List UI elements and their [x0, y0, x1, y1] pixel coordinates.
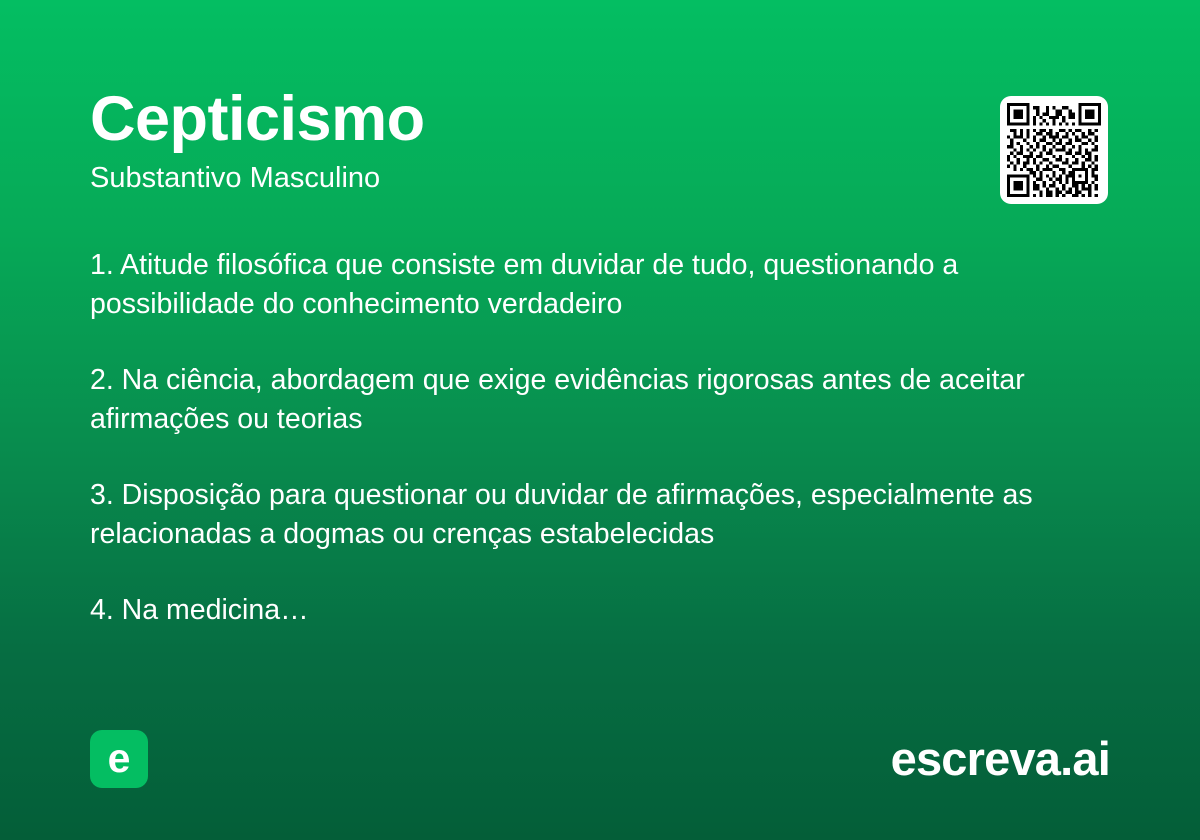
definition-item: 4. Na medicina…	[90, 591, 1100, 630]
page-title: Cepticismo	[90, 88, 1110, 151]
definition-item: 2. Na ciência, abordagem que exige evidê…	[90, 361, 1100, 439]
definition-item: 1. Atitude filosófica que consiste em du…	[90, 246, 1100, 324]
definition-card: Cepticismo Substantivo Masculino	[0, 0, 1200, 840]
qr-code-container[interactable]	[1000, 96, 1108, 204]
brand-logo-icon: e	[90, 730, 148, 788]
brand-logo-letter: e	[90, 730, 148, 788]
brand-name: escreva.ai	[891, 733, 1110, 785]
definition-list: 1. Atitude filosófica que consiste em du…	[90, 246, 1100, 630]
word-class-label: Substantivo Masculino	[90, 151, 1110, 193]
definition-item: 3. Disposição para questionar ou duvidar…	[90, 476, 1100, 554]
card-footer: e escreva.ai	[90, 730, 1110, 788]
card-header: Cepticismo Substantivo Masculino	[90, 88, 1110, 193]
qr-code-icon	[1007, 103, 1101, 197]
